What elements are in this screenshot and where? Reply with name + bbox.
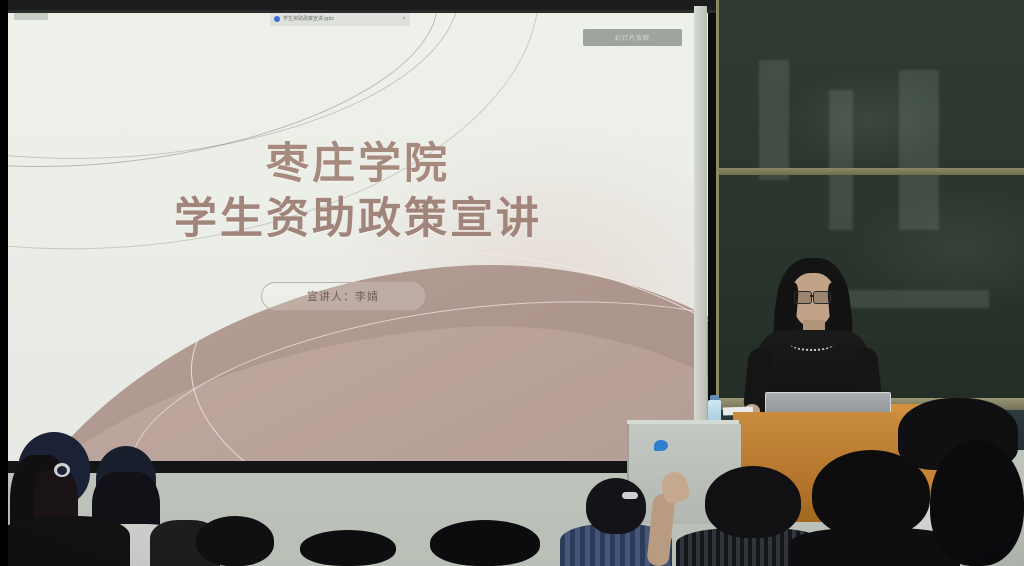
slide-presenter-pill: 宣讲人：李婧 [261, 282, 425, 310]
close-icon[interactable]: × [402, 16, 406, 22]
browser-titlebar [0, 0, 716, 10]
slide-title-line1: 枣庄学院 [8, 129, 708, 191]
presenter-necklace [790, 337, 834, 351]
projector-screen: 枣庄学院 学生资助政策宣讲 宣讲人：李婧 [8, 6, 708, 461]
slide-presenter-label: 宣讲人：李婧 [307, 288, 379, 304]
hair-clip-inner [57, 466, 67, 475]
audience-head [196, 516, 274, 566]
glasses-icon [794, 291, 812, 304]
slide-title-line2: 学生资助政策宣讲 [8, 184, 708, 246]
audience-head [930, 440, 1024, 566]
water-bottle [708, 400, 721, 422]
audience-head [300, 530, 396, 566]
photo-left-border [0, 0, 8, 566]
lecture-photo-scene: 枣庄学院 学生资助政策宣讲 宣讲人：李婧 学生资助政策宣讲.pptx × 幻灯片… [0, 0, 1024, 566]
slideshow-toolbar-label: 幻灯片放映 [615, 33, 650, 42]
chalk-smudge [829, 90, 853, 230]
cabinet-logo-icon [654, 440, 668, 451]
glasses-icon [813, 291, 831, 304]
chalkboard-divider [719, 168, 1024, 175]
audience-head [586, 478, 646, 534]
glasses-bridge [810, 295, 814, 297]
chalk-smudge [899, 70, 939, 230]
audience-body [0, 516, 130, 566]
audience-head [430, 520, 540, 566]
chalk-smudge [759, 60, 789, 180]
browser-toolbar-strip [0, 10, 716, 13]
browser-tab[interactable]: 学生资助政策宣讲.pptx × [270, 11, 410, 26]
tab-favicon-icon [274, 16, 280, 22]
slideshow-toolbar-button[interactable]: 幻灯片放映 [583, 29, 682, 46]
hair-clip [622, 492, 638, 499]
browser-tab-title: 学生资助政策宣讲.pptx [283, 15, 399, 22]
audience-head [705, 466, 801, 538]
projector-screen-right-post [694, 6, 707, 461]
